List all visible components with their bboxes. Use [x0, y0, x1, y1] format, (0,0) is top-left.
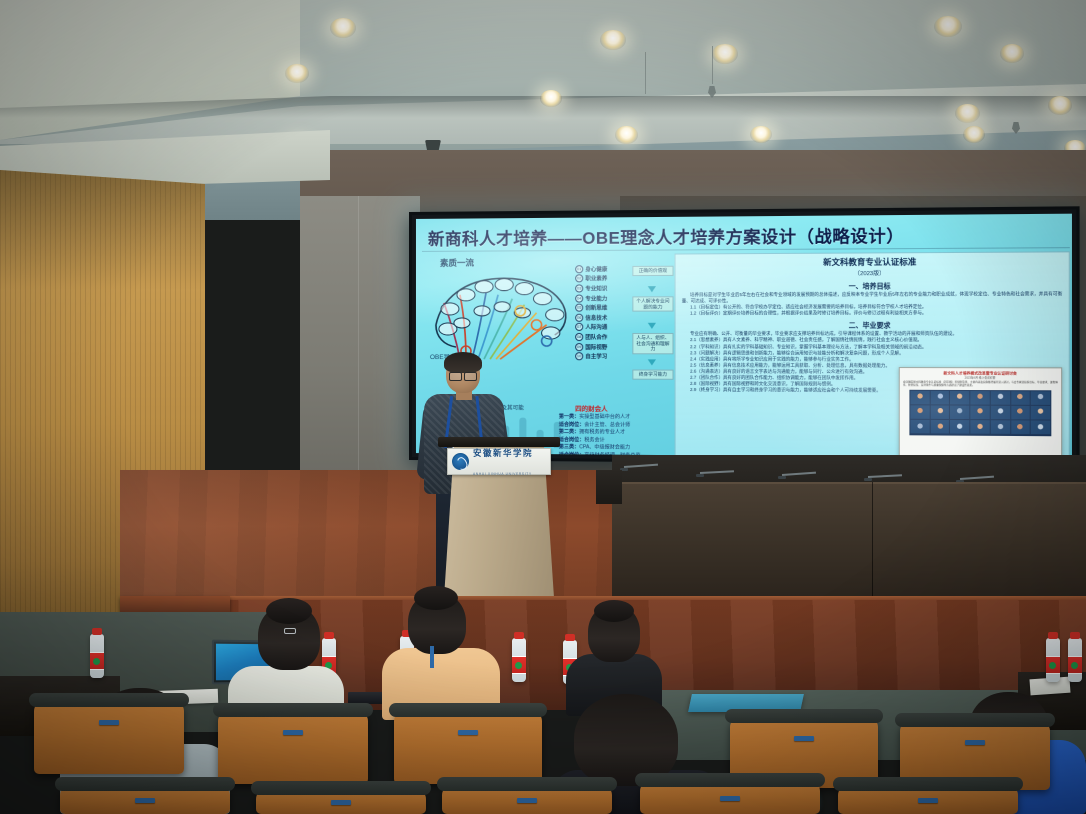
participant-tile [991, 391, 1010, 405]
speaker-hair [444, 352, 482, 373]
participant-tile [950, 405, 969, 419]
seat-number-tag [720, 796, 740, 801]
seat-number-tag [794, 736, 814, 741]
auditorium-chair[interactable] [442, 786, 612, 814]
item-label: 专业能力 [585, 294, 607, 302]
presentation-screen[interactable]: 新商科人才培养——OBE理念人才培养方案设计（战略设计） 素质一流 OBE导向 [409, 206, 1080, 465]
tier-label: 适合岗位： [559, 452, 584, 458]
tier-text: 税务会计 [584, 437, 604, 443]
seat-number-tag [331, 800, 351, 805]
microphone-base [864, 478, 872, 481]
water-bottle [1046, 638, 1060, 682]
list-item: 05 创新思维 [575, 303, 638, 313]
downlight [934, 16, 962, 37]
eyeglasses-icon [449, 372, 477, 379]
participant-tile [1031, 391, 1050, 405]
item-number: 01 [575, 265, 583, 273]
ceiling-cable [645, 52, 646, 94]
slide-surface: 新商科人才培养——OBE理念人才培养方案设计（战略设计） 素质一流 OBE导向 [416, 214, 1072, 459]
item-label: 职业素养 [585, 275, 607, 283]
group-note: 个人解决专业问题的能力 [632, 296, 673, 312]
bottle-cap [1070, 632, 1080, 639]
auditorium-chair[interactable] [838, 786, 1018, 814]
seat-number-tag [918, 798, 938, 803]
auditorium-chair[interactable] [60, 786, 230, 814]
downlight [750, 126, 772, 143]
side-cabinet [596, 470, 622, 504]
tier-label: 第一类： [559, 414, 579, 420]
list-item: 08 团队合作 [575, 332, 638, 342]
participant-tile [910, 390, 929, 404]
participant-tile [991, 420, 1010, 434]
list-item: 06 信息技术 [575, 313, 638, 323]
arrow-down-icon [648, 286, 656, 292]
university-name-cn: 安徽新华学院 [473, 448, 533, 458]
tier-label: 适合岗位： [559, 437, 584, 443]
arrow-down-icon [648, 323, 656, 329]
group-note: 人与人、组织、社会沟通和理解力 [632, 333, 673, 355]
downlight [540, 90, 562, 107]
ceiling-cable [712, 46, 713, 84]
item-number: 06 [575, 313, 583, 321]
participant-tile [910, 420, 929, 434]
list-item: 04 专业能力 [575, 293, 638, 303]
downlight [330, 18, 356, 38]
lecture-hall-photo: 新商科人才培养——OBE理念人才培养方案设计（战略设计） 素质一流 OBE导向 [0, 0, 1086, 814]
group-note: 正确的价值观 [632, 266, 673, 276]
auditorium-chair[interactable] [640, 782, 820, 814]
item-number: 07 [575, 323, 583, 331]
list-item: 07 人际沟通 [575, 322, 638, 332]
microphone-base [778, 476, 786, 479]
seat-number-tag [283, 730, 303, 735]
list-item: 03 专业知识 [575, 283, 638, 293]
tier-label: 第二类： [559, 429, 579, 435]
downlight [955, 104, 980, 123]
competency-fan-diagram [426, 266, 577, 367]
item-label: 专业知识 [585, 284, 607, 292]
bottle-label [512, 656, 526, 674]
downlight [615, 126, 638, 144]
bottle-label [1068, 656, 1082, 674]
list-item: 10 自主学习 [575, 352, 638, 362]
university-name-en: ANHUI XINHUA UNIVERSITY [473, 472, 532, 476]
item-label: 自主学习 [585, 352, 607, 360]
downlight [712, 44, 738, 64]
auditorium-chair[interactable] [34, 702, 184, 774]
item-label: 国际视野 [585, 343, 607, 351]
wood-wall-shadow [0, 170, 205, 290]
conference-desk-front [612, 482, 1086, 602]
section1-paragraph: 培养目标是对学生毕业后5年左右在社会和专业领域的发展预期的总体描述，应反映本专业… [682, 291, 1062, 305]
arrow-down-icon [648, 359, 656, 365]
stage-step [120, 596, 230, 612]
item-number: 10 [575, 352, 583, 360]
inset-document-card: 新文科人才培养模式改革暨专业认证研讨会 2023年6月 线上会议纪要 会议围绕新… [899, 367, 1062, 458]
career-heading: 四的财会人 [575, 404, 608, 413]
item-number: 09 [575, 343, 583, 351]
podium-nameplate: 安徽新华学院 ANHUI XINHUA UNIVERSITY [447, 448, 551, 475]
hair-bun [594, 600, 634, 622]
tier-label: 适合岗位： [559, 421, 584, 427]
list-item: 02 职业素养 [575, 274, 638, 284]
participant-tile [930, 405, 949, 419]
tier-text: 实操型基础中台的人才 [579, 414, 630, 420]
bottle-cap [514, 632, 524, 639]
career-tier-list: 第一类：实操型基础中台的人才 适合岗位：会计主管、总会计师 第二类：拥有税务的专… [559, 414, 674, 459]
auditorium-chair[interactable] [394, 712, 542, 784]
item-number: 04 [575, 294, 583, 302]
item-label: 身心健康 [585, 265, 607, 273]
seat-number-tag [517, 798, 537, 803]
item-number: 08 [575, 333, 583, 341]
slide-right-pane: 新文科教育专业认证标准 （2023版） 一、培养目标 培养目标是对学生毕业后5年… [675, 251, 1070, 458]
item-label: 创新思维 [585, 304, 607, 312]
bottle-label [90, 652, 104, 670]
tier-label: 第三类： [559, 444, 579, 450]
participant-tile [1011, 421, 1030, 435]
standard-title: 新文科教育专业认证标准 [682, 256, 1062, 269]
lanyard-strap [430, 646, 434, 668]
section-heading-1: 一、培养目标 [682, 280, 1062, 292]
list-item: 09 国际视野 [575, 342, 638, 352]
participant-tile [950, 390, 969, 404]
downlight [285, 64, 309, 83]
water-bottle [90, 634, 104, 678]
tier-text: 会计主管、总会计师 [584, 422, 630, 428]
participant-tile [930, 390, 949, 404]
participant-tile [1011, 406, 1030, 420]
standard-subtitle: （2023版） [682, 268, 1062, 278]
hair-clip-icon [284, 628, 296, 634]
seat-number-tag [458, 730, 478, 735]
item-label: 团队合作 [585, 333, 607, 341]
podium-text: 安徽新华学院 ANHUI XINHUA UNIVERSITY [473, 443, 533, 480]
hair-bun [414, 586, 458, 610]
tier-text: 拥有税务的专业人才 [579, 429, 625, 435]
competency-list: 01 身心健康 02 职业素养 03 专业知识 04 专业能力 [575, 264, 638, 361]
bottle-cap [1048, 632, 1058, 639]
participant-tile [950, 420, 969, 434]
item-label: 人际沟通 [585, 323, 607, 331]
acoustic-wall-panel [300, 196, 420, 486]
downlight [600, 30, 626, 50]
video-conference-grid [909, 389, 1051, 435]
auditorium-chair[interactable] [256, 790, 426, 814]
group-note: 终身学习能力 [632, 370, 673, 380]
participant-tile [991, 406, 1010, 420]
bottle-label [1046, 656, 1060, 674]
desk-seam [872, 482, 873, 602]
section1-paragraph: 1.2（目标评价）定期评价培养目标的合理性，并根据评价结果及时修订培养目标。评价… [682, 310, 1062, 317]
participant-tile [930, 420, 949, 434]
bottle-cap [565, 634, 575, 641]
downlight [963, 126, 985, 143]
participant-tile [971, 405, 990, 419]
seat-number-tag [99, 720, 119, 725]
tier-text: CPA、中级报财会能力 [579, 444, 630, 450]
participant-tile [971, 420, 990, 434]
participant-tile [971, 391, 990, 405]
item-number: 05 [575, 304, 583, 312]
inset-body-text: 会议围绕新文科教育专业认证标准（2023版）的研制背景、主要内容及实施路径展开深… [903, 380, 1058, 387]
downlight [1048, 96, 1072, 115]
participant-tile [1031, 406, 1050, 420]
hair-bun [266, 598, 312, 624]
seat-number-tag [135, 798, 155, 803]
item-number: 03 [575, 284, 583, 292]
bottle-cap [324, 632, 334, 639]
participant-tile [910, 405, 929, 419]
slide-title: 新商科人才培养——OBE理念人才培养方案设计（战略设计） [428, 221, 1066, 250]
item-label: 信息技术 [585, 313, 607, 321]
bottle-cap [92, 628, 102, 635]
participant-tile [1011, 391, 1030, 405]
participant-tile [1031, 421, 1050, 435]
water-bottle [512, 638, 526, 682]
auditorium-chair[interactable] [218, 712, 368, 784]
microphone-base [696, 474, 704, 477]
water-bottle [1068, 638, 1082, 682]
inset-subline: 2023年6月 线上会议纪要 [903, 376, 1058, 380]
section-heading-2: 二、毕业要求 [682, 320, 1062, 331]
item-number: 02 [575, 275, 583, 283]
downlight [1000, 44, 1024, 63]
seat-number-tag [965, 740, 985, 745]
list-item: 01 身心健康 [575, 264, 638, 274]
university-logo-icon [452, 453, 469, 470]
